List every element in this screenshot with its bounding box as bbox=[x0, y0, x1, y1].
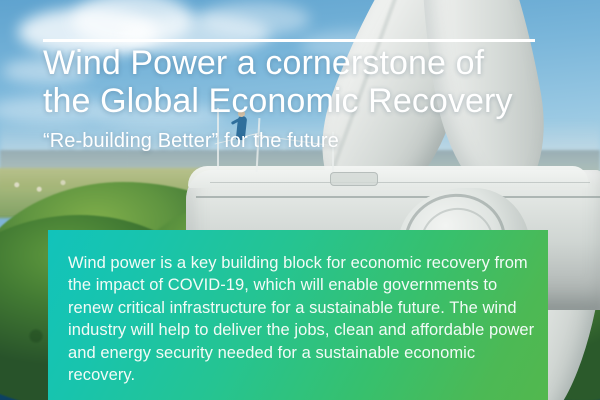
page-subtitle: “Re-building Better” for the future bbox=[43, 130, 339, 153]
page-title: Wind Power a cornerstone of the Global E… bbox=[43, 44, 563, 120]
title-line-1: Wind Power a cornerstone of bbox=[43, 44, 563, 82]
body-text: Wind power is a key building block for e… bbox=[68, 252, 538, 386]
poster: Wind Power a cornerstone of the Global E… bbox=[0, 0, 600, 400]
title-rule bbox=[43, 39, 535, 42]
turbine-nacelle-seam bbox=[196, 196, 600, 198]
cloud bbox=[200, 2, 310, 36]
turbine-nacelle-seam bbox=[210, 182, 590, 183]
turbine-nacelle-hatch bbox=[330, 172, 378, 186]
title-line-2: the Global Economic Recovery bbox=[43, 82, 563, 120]
turbine-nacelle-roof bbox=[188, 166, 588, 188]
body-text-panel: Wind power is a key building block for e… bbox=[48, 230, 548, 400]
